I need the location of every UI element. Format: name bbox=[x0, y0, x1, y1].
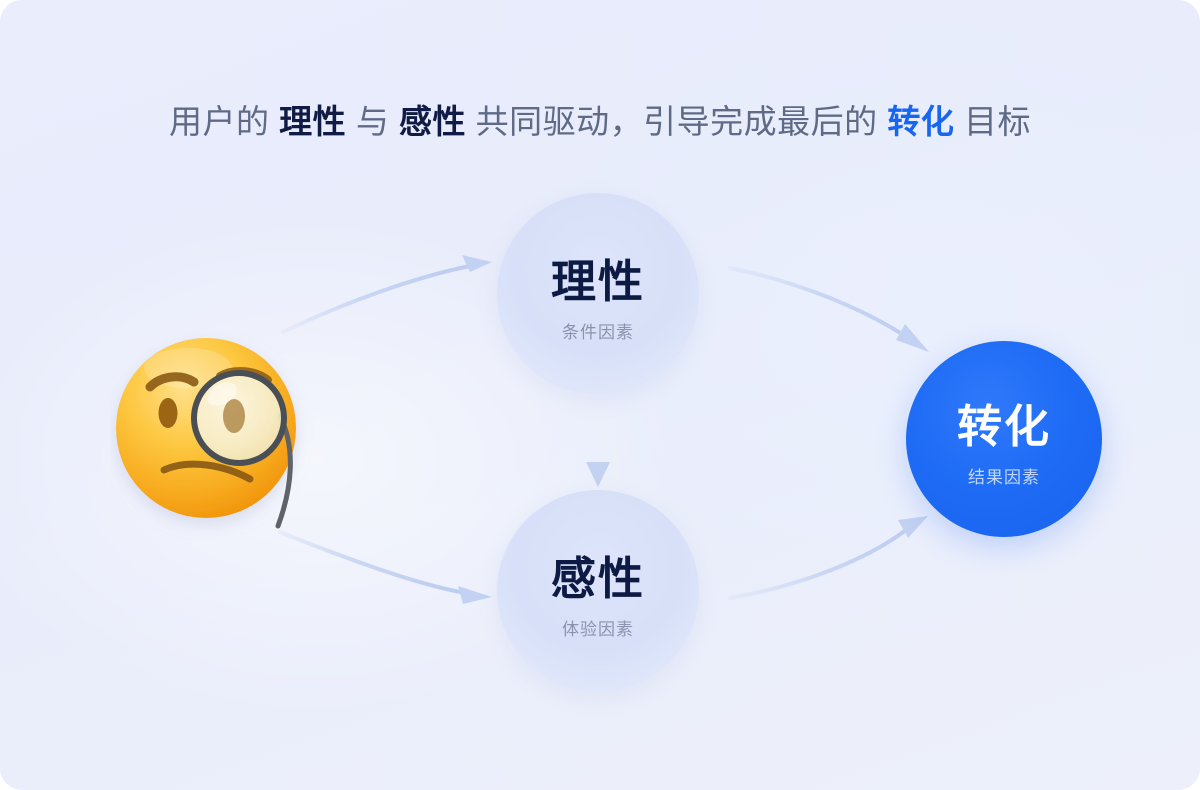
node-rational-title: 理性 bbox=[551, 245, 645, 310]
node-conversion[interactable]: 转化 结果因素 bbox=[906, 341, 1102, 537]
title-segment-1: 用户的 bbox=[169, 103, 279, 140]
title-keyword-rational: 理性 bbox=[279, 103, 346, 140]
arrow-rational-to-emotional bbox=[586, 400, 610, 487]
arrow-user-to-rational bbox=[283, 255, 492, 332]
page-title: 用户的 理性 与 感性 共同驱动，引导完成最后的 转化 目标 bbox=[0, 100, 1200, 144]
arrow-rational-to-conversion bbox=[730, 268, 929, 352]
arrow-emotional-to-conversion bbox=[730, 516, 928, 598]
node-rational[interactable]: 理性 条件因素 bbox=[497, 193, 699, 395]
node-emotional-subtitle: 体验因素 bbox=[562, 615, 634, 640]
title-segment-7: 目标 bbox=[954, 103, 1031, 140]
node-emotional[interactable]: 感性 体验因素 bbox=[497, 490, 699, 692]
node-conversion-subtitle: 结果因素 bbox=[968, 463, 1040, 488]
diagram-canvas: 用户的 理性 与 感性 共同驱动，引导完成最后的 转化 目标 bbox=[0, 0, 1200, 790]
user-emoji bbox=[110, 330, 320, 540]
arrow-user-to-emotional bbox=[280, 532, 492, 604]
title-keyword-conversion: 转化 bbox=[887, 103, 954, 140]
node-emotional-title: 感性 bbox=[551, 542, 645, 607]
title-segment-3: 与 bbox=[346, 103, 399, 140]
face-with-monocle-icon bbox=[110, 330, 320, 540]
node-conversion-title: 转化 bbox=[957, 390, 1051, 455]
node-rational-subtitle: 条件因素 bbox=[562, 318, 634, 343]
title-segment-5: 共同驱动，引导完成最后的 bbox=[466, 103, 887, 140]
title-keyword-emotional: 感性 bbox=[399, 103, 466, 140]
